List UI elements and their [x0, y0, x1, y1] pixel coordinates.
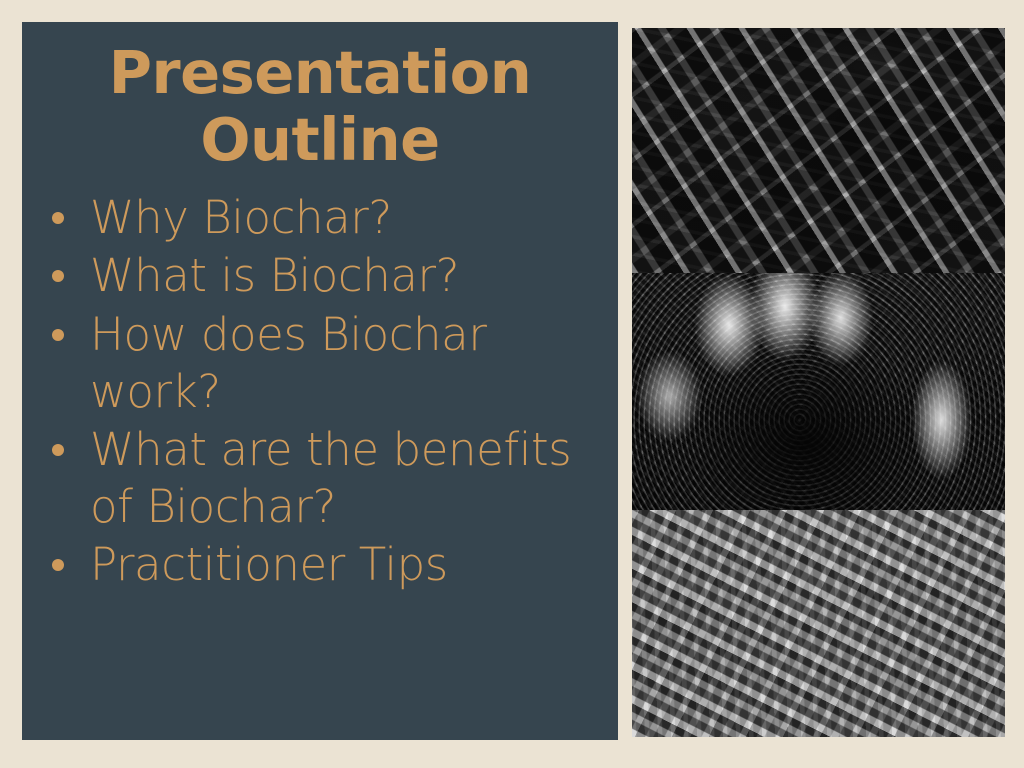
- photo-column: [632, 28, 1005, 737]
- charcoal-chunks-photo: [632, 28, 1005, 273]
- presentation-slide: Presentation Outline Why Biochar? What i…: [0, 0, 1024, 768]
- page-title: Presentation Outline: [32, 28, 608, 173]
- hand-holding-biochar-photo: [632, 273, 1005, 510]
- title-line-2: Outline: [200, 105, 439, 174]
- list-item: Why Biochar?: [42, 189, 602, 246]
- list-item-label: What are the benefits of Biochar?: [90, 423, 571, 533]
- title-line-1: Presentation: [109, 38, 531, 107]
- list-item: What is Biochar?: [42, 247, 602, 304]
- bullet-dot-icon: [52, 212, 64, 224]
- list-item: Practitioner Tips: [42, 536, 602, 593]
- outline-list: Why Biochar? What is Biochar? How does B…: [32, 189, 608, 593]
- list-item-label: Why Biochar?: [90, 191, 392, 244]
- bullet-dot-icon: [52, 329, 64, 341]
- bullet-dot-icon: [52, 444, 64, 456]
- list-item-label: How does Biochar work?: [90, 308, 486, 418]
- list-item: What are the benefits of Biochar?: [42, 421, 602, 535]
- slide-text-panel: Presentation Outline Why Biochar? What i…: [22, 22, 618, 740]
- list-item-label: Practitioner Tips: [90, 538, 448, 591]
- list-item: How does Biochar work?: [42, 306, 602, 420]
- bullet-dot-icon: [52, 559, 64, 571]
- list-item-label: What is Biochar?: [90, 249, 459, 302]
- bullet-dot-icon: [52, 270, 64, 282]
- crushed-charcoal-photo: [632, 510, 1005, 737]
